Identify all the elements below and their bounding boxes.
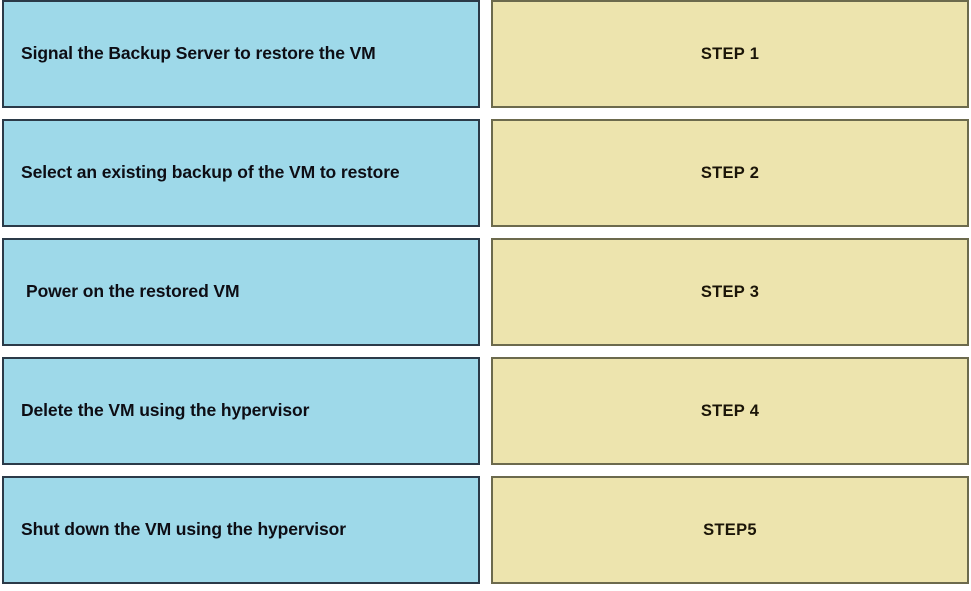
match-row: Select an existing backup of the VM to r… <box>0 119 971 227</box>
step-box-5[interactable]: STEP5 <box>491 476 969 584</box>
step-box-3[interactable]: STEP 3 <box>491 238 969 346</box>
step-box-4[interactable]: STEP 4 <box>491 357 969 465</box>
step-label: STEP 1 <box>701 45 759 64</box>
column-gap <box>480 357 491 465</box>
item-label: Delete the VM using the hypervisor <box>21 399 309 423</box>
step-box-2[interactable]: STEP 2 <box>491 119 969 227</box>
column-gap <box>480 119 491 227</box>
column-gap <box>480 0 491 108</box>
item-box-3[interactable]: Power on the restored VM <box>2 238 480 346</box>
item-box-2[interactable]: Select an existing backup of the VM to r… <box>2 119 480 227</box>
step-label: STEP5 <box>703 521 757 540</box>
column-gap <box>480 238 491 346</box>
item-label: Select an existing backup of the VM to r… <box>21 161 400 185</box>
match-row: Power on the restored VM STEP 3 <box>0 238 971 346</box>
match-row: Signal the Backup Server to restore the … <box>0 0 971 108</box>
step-label: STEP 2 <box>701 164 759 183</box>
step-box-1[interactable]: STEP 1 <box>491 0 969 108</box>
item-label: Shut down the VM using the hypervisor <box>21 518 346 542</box>
item-box-1[interactable]: Signal the Backup Server to restore the … <box>2 0 480 108</box>
match-row: Shut down the VM using the hypervisor ST… <box>0 476 971 584</box>
match-row: Delete the VM using the hypervisor STEP … <box>0 357 971 465</box>
item-label: Signal the Backup Server to restore the … <box>21 42 376 66</box>
matching-exhibit: Signal the Backup Server to restore the … <box>0 0 971 591</box>
item-box-4[interactable]: Delete the VM using the hypervisor <box>2 357 480 465</box>
step-label: STEP 4 <box>701 402 759 421</box>
step-label: STEP 3 <box>701 283 759 302</box>
item-label: Power on the restored VM <box>26 280 239 304</box>
column-gap <box>480 476 491 584</box>
item-box-5[interactable]: Shut down the VM using the hypervisor <box>2 476 480 584</box>
